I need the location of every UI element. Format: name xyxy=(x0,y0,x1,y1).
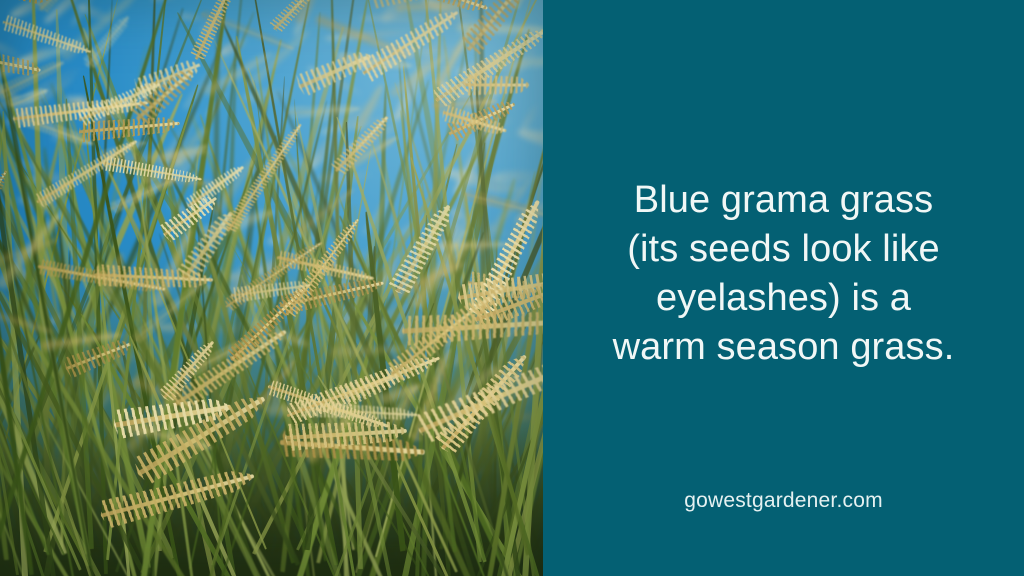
seedhead-spikes-layer xyxy=(0,0,543,576)
graphic-canvas: Blue grama grass (its seeds look like ey… xyxy=(0,0,1024,576)
site-credit: gowestgardener.com xyxy=(543,488,1024,514)
caption-panel: Blue grama grass (its seeds look like ey… xyxy=(543,0,1024,576)
grass-photo xyxy=(0,0,543,576)
headline-text: Blue grama grass (its seeds look like ey… xyxy=(561,176,1006,372)
